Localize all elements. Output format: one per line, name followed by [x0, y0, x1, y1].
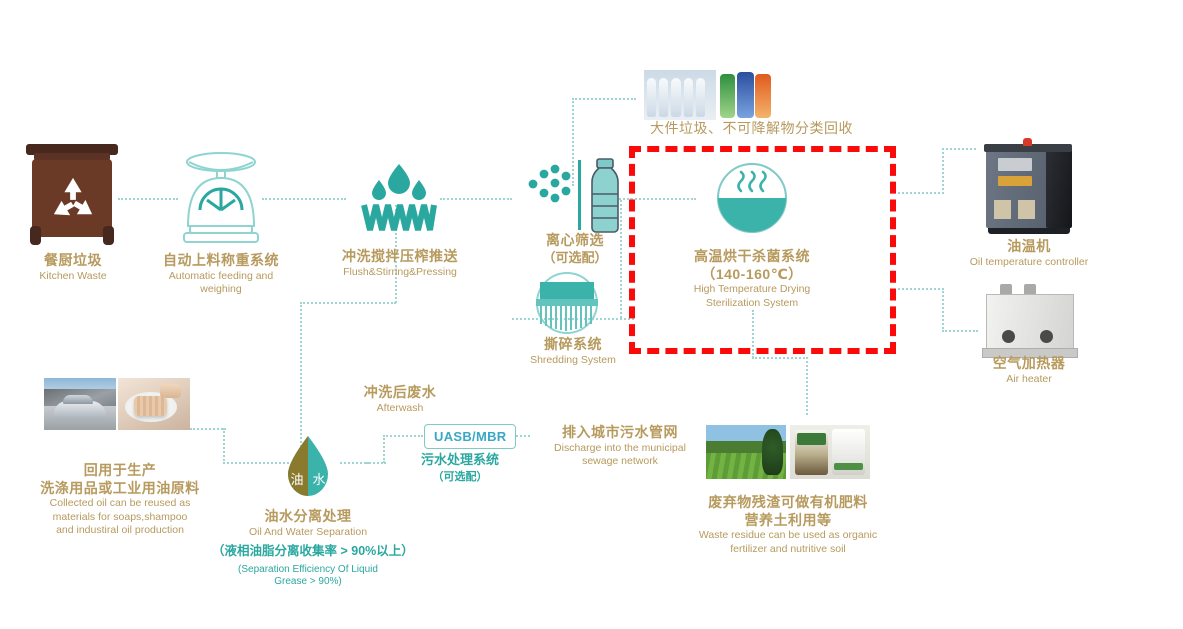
- oil-water-note-en-2: Grease > 90%): [212, 576, 404, 589]
- shredding-cn: 撕碎系统: [498, 336, 648, 354]
- centrifugal-cn: 离心筛选: [500, 232, 650, 250]
- feeding-weighing-en-1: Automatic feeding and: [146, 270, 296, 284]
- svg-text:油: 油: [290, 472, 303, 487]
- oil-reuse-en-2: materials for soaps,shampoo: [10, 511, 230, 525]
- field-photo: [706, 425, 786, 479]
- oil-controller-en: Oil temperature controller: [949, 256, 1109, 270]
- feeding-weighing-en-2: weighing: [146, 283, 296, 297]
- label-air-heater: 空气加热器 Air heater: [949, 355, 1109, 386]
- fertilizer-cn-1: 废弃物残渣可做有机肥料: [672, 494, 904, 512]
- fertilizer-cn-2: 营养土利用等: [672, 512, 904, 530]
- label-flush-press: 冲洗搅拌压榨推送 Flush&Stirring&Pressing: [320, 248, 480, 279]
- oil-reuse-en-3: and industiral oil production: [10, 524, 230, 538]
- centrifugal-optional: （可选配）: [500, 250, 650, 266]
- plastic-bottle-icon: [586, 158, 624, 234]
- shredding-en: Shredding System: [498, 354, 648, 368]
- kitchen-waste-cn: 餐厨垃圾: [0, 252, 146, 270]
- air-heater-photo: [978, 282, 1080, 360]
- recycle-symbol-icon: [50, 176, 96, 220]
- soap-photo: [118, 378, 190, 430]
- feeding-weighing-cn: 自动上料称重系统: [146, 252, 296, 270]
- connector-scale-to-flush: [262, 198, 346, 200]
- drying-en-2: Sterilization System: [672, 297, 832, 311]
- connector-drying-to-airheater-v: [942, 288, 944, 332]
- fertilizer-en-1: Waste residue can be used as organic: [672, 529, 904, 543]
- connector-oilwater-to-reuse-v: [223, 428, 225, 464]
- oil-temperature-machine-photo: [976, 142, 1082, 238]
- afterwash-en: Afterwash: [330, 402, 470, 416]
- connector-to-uasb-v: [383, 435, 385, 463]
- bulky-recycling-cn: 大件垃圾、不可降解物分类回收: [650, 120, 990, 138]
- oil-reuse-cn-2: 洗涤用品或工业用油原料: [10, 480, 230, 498]
- flush-press-en: Flush&Stirring&Pressing: [320, 266, 480, 280]
- connector-to-uasb-h2: [383, 435, 423, 437]
- drying-cn: 高温烘干杀菌系统: [672, 248, 832, 266]
- connector-drying-to-oilmachine-v: [942, 148, 944, 194]
- connector-airheater-in: [942, 330, 978, 332]
- green-can-photo: [720, 74, 735, 118]
- connector-centrifugal-up: [572, 98, 574, 186]
- plastic-bottles-photo: [644, 70, 716, 120]
- label-bulky-recycling: 大件垃圾、不可降解物分类回收: [590, 120, 990, 138]
- drying-en-1: High Temperature Drying: [672, 283, 832, 297]
- label-feeding-weighing: 自动上料称重系统 Automatic feeding and weighing: [146, 252, 296, 297]
- discharge-en-2: sewage network: [520, 455, 720, 469]
- label-drying-sterilization: 高温烘干杀菌系统 （140-160℃） High Temperature Dry…: [672, 248, 832, 310]
- label-wastewater-system: 污水处理系统 （可选配）: [396, 452, 524, 485]
- uasb-mbr-badge[interactable]: UASB/MBR: [424, 424, 516, 449]
- oil-water-en: Oil And Water Separation: [212, 526, 404, 540]
- drying-temp: （140-160℃）: [672, 266, 832, 284]
- flush-press-cn: 冲洗搅拌压榨推送: [320, 248, 480, 266]
- oil-water-note-cn: （液相油脂分离收集率 > 90%以上）: [212, 544, 404, 560]
- orange-can-photo: [755, 74, 771, 118]
- label-afterwash: 冲洗后废水 Afterwash: [330, 384, 470, 415]
- oil-water-cn: 油水分离处理: [212, 508, 404, 526]
- wastewater-cn: 污水处理系统: [396, 452, 524, 468]
- svg-text:水: 水: [312, 472, 325, 487]
- connector-waste-to-scale: [118, 198, 178, 200]
- afterwash-cn: 冲洗后废水: [330, 384, 470, 402]
- oil-water-droplet-icon: 油 水: [276, 434, 340, 510]
- fertilizer-bags-photo: [790, 425, 870, 479]
- water-drops-icon: [358, 162, 440, 232]
- process-flow-diagram: 餐厨垃圾 Kitchen Waste 自动上料称重系统 Automatic fe…: [0, 0, 1183, 629]
- connector-down-to-fertilizer-h: [752, 357, 808, 359]
- label-oil-controller: 油温机 Oil temperature controller: [949, 238, 1109, 269]
- discharge-en-1: Discharge into the municipal: [520, 442, 720, 456]
- label-fertilizer: 废弃物残渣可做有机肥料 营养土利用等 Waste residue can be …: [672, 494, 904, 556]
- oil-controller-cn: 油温机: [949, 238, 1109, 256]
- label-oil-reuse: 回用于生产 洗涤用品或工业用油原料 Collected oil can be r…: [10, 462, 230, 538]
- connector-flush-down-left: [300, 302, 396, 304]
- oil-water-note-en-1: (Separation Efficiency Of Liquid: [212, 564, 404, 577]
- label-centrifugal: 离心筛选 （可选配）: [500, 232, 650, 266]
- connector-oilmachine-in: [942, 148, 976, 150]
- connector-flush-to-centrifugal: [440, 198, 512, 200]
- kitchen-waste-en: Kitchen Waste: [0, 270, 146, 284]
- oil-reuse-cn-1: 回用于生产: [10, 462, 230, 480]
- blue-can-photo: [737, 72, 754, 118]
- label-oil-water-separation: 油水分离处理 Oil And Water Separation （液相油脂分离收…: [212, 508, 404, 589]
- discharge-cn: 排入城市污水管网: [520, 424, 720, 442]
- connector-drying-to-oilmachine-h: [898, 192, 944, 194]
- label-shredding: 撕碎系统 Shredding System: [498, 336, 648, 367]
- oil-reuse-en-1: Collected oil can be reused as: [10, 497, 230, 511]
- trash-bin-icon: [26, 144, 118, 246]
- connector-reuse-in: [190, 428, 226, 430]
- label-kitchen-waste: 餐厨垃圾 Kitchen Waste: [0, 252, 146, 283]
- shredder-icon: [528, 272, 606, 334]
- weighing-scale-icon: [176, 148, 266, 248]
- centrifugal-divider: [578, 160, 581, 230]
- fertilizer-en-2: fertilizer and nutritive soil: [672, 543, 904, 557]
- particles-icon: [524, 162, 572, 206]
- wastewater-optional: （可选配）: [396, 471, 524, 485]
- connector-drying-to-airheater-h: [898, 288, 944, 290]
- connector-up-to-bulky: [572, 98, 636, 100]
- steam-bowl-icon: [716, 162, 788, 234]
- air-heater-cn: 空气加热器: [949, 355, 1109, 373]
- connector-to-uasb-h1: [366, 462, 386, 464]
- label-discharge: 排入城市污水管网 Discharge into the municipal se…: [520, 424, 720, 469]
- car-photo: [44, 378, 116, 430]
- air-heater-en: Air heater: [949, 373, 1109, 387]
- connector-to-fertilizer: [806, 357, 808, 415]
